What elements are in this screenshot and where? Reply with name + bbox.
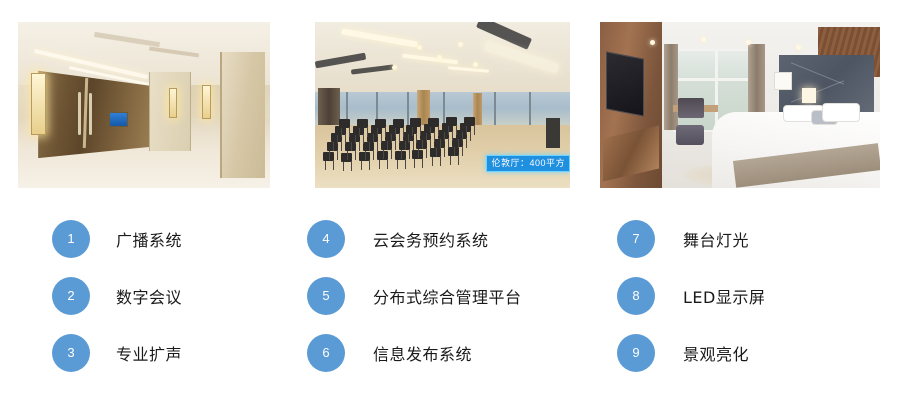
list-item[interactable]: 1 广播系统 [52,210,342,267]
wall-sconce [202,85,211,119]
list-item[interactable]: 7 舞台灯光 [617,210,900,267]
downlight [701,37,706,42]
item-number-badge: 3 [52,334,90,372]
item-label: 数字会议 [116,284,182,308]
item-number-badge: 1 [52,220,90,258]
downlight [746,40,751,45]
chair-rows [315,115,514,175]
item-label: 景观亮化 [683,341,749,365]
pillow [822,103,860,122]
item-number-badge: 6 [307,334,345,372]
item-number-badge: 4 [307,220,345,258]
list-item[interactable]: 5 分布式综合管理平台 [307,267,597,324]
item-number-badge: 2 [52,277,90,315]
list-item[interactable]: 8 LED显示屏 [617,267,900,324]
feature-column-3: 7 舞台灯光 8 LED显示屏 9 景观亮化 [617,210,900,381]
gallery-photo-guest-room [600,22,880,188]
wall-display-screen [109,112,128,127]
item-label: 舞台灯光 [683,227,749,251]
list-item[interactable]: 6 信息发布系统 [307,324,597,381]
marble-pillar [220,52,265,178]
item-number-badge: 7 [617,220,655,258]
loudspeaker [546,118,560,148]
item-number-badge: 9 [617,334,655,372]
item-label: 分布式综合管理平台 [373,284,522,308]
list-item[interactable]: 4 云会务预约系统 [307,210,597,267]
item-number-badge: 5 [307,277,345,315]
list-item[interactable]: 2 数字会议 [52,267,342,324]
window-mullion [529,92,531,129]
gallery-photo-elevator-lobby [18,22,270,188]
feature-list: 1 广播系统 2 数字会议 3 专业扩声 4 云会务预约系统 5 分布式综合管理… [0,210,900,414]
downlight [473,62,478,67]
room-area-caption: 伦敦厅：400平方 [486,155,570,172]
item-label: 广播系统 [116,227,182,251]
wall-sconce [31,73,46,135]
door-handle [89,93,92,135]
item-label: 专业扩声 [116,341,182,365]
wall-sconce [169,88,177,118]
item-label: LED显示屏 [683,284,765,308]
list-item[interactable]: 9 景观亮化 [617,324,900,381]
ottoman [676,125,704,145]
downlight [458,42,463,47]
item-label: 信息发布系统 [373,341,472,365]
desk-chair [678,98,703,118]
photo-gallery: 伦敦厅：400平方 [0,0,900,210]
curtain-left [664,44,678,130]
gallery-photo-conference-hall: 伦敦厅：400平方 [315,22,570,188]
item-label: 云会务预约系统 [373,227,489,251]
feature-column-2: 4 云会务预约系统 5 分布式综合管理平台 6 信息发布系统 [307,210,597,381]
feature-column-1: 1 广播系统 2 数字会议 3 专业扩声 [52,210,342,381]
floor-lamp [774,72,793,91]
item-number-badge: 8 [617,277,655,315]
wall-mounted-tv [606,51,644,117]
downlight [392,65,397,70]
bedside-lamp [802,88,816,103]
list-item[interactable]: 3 专业扩声 [52,324,342,381]
